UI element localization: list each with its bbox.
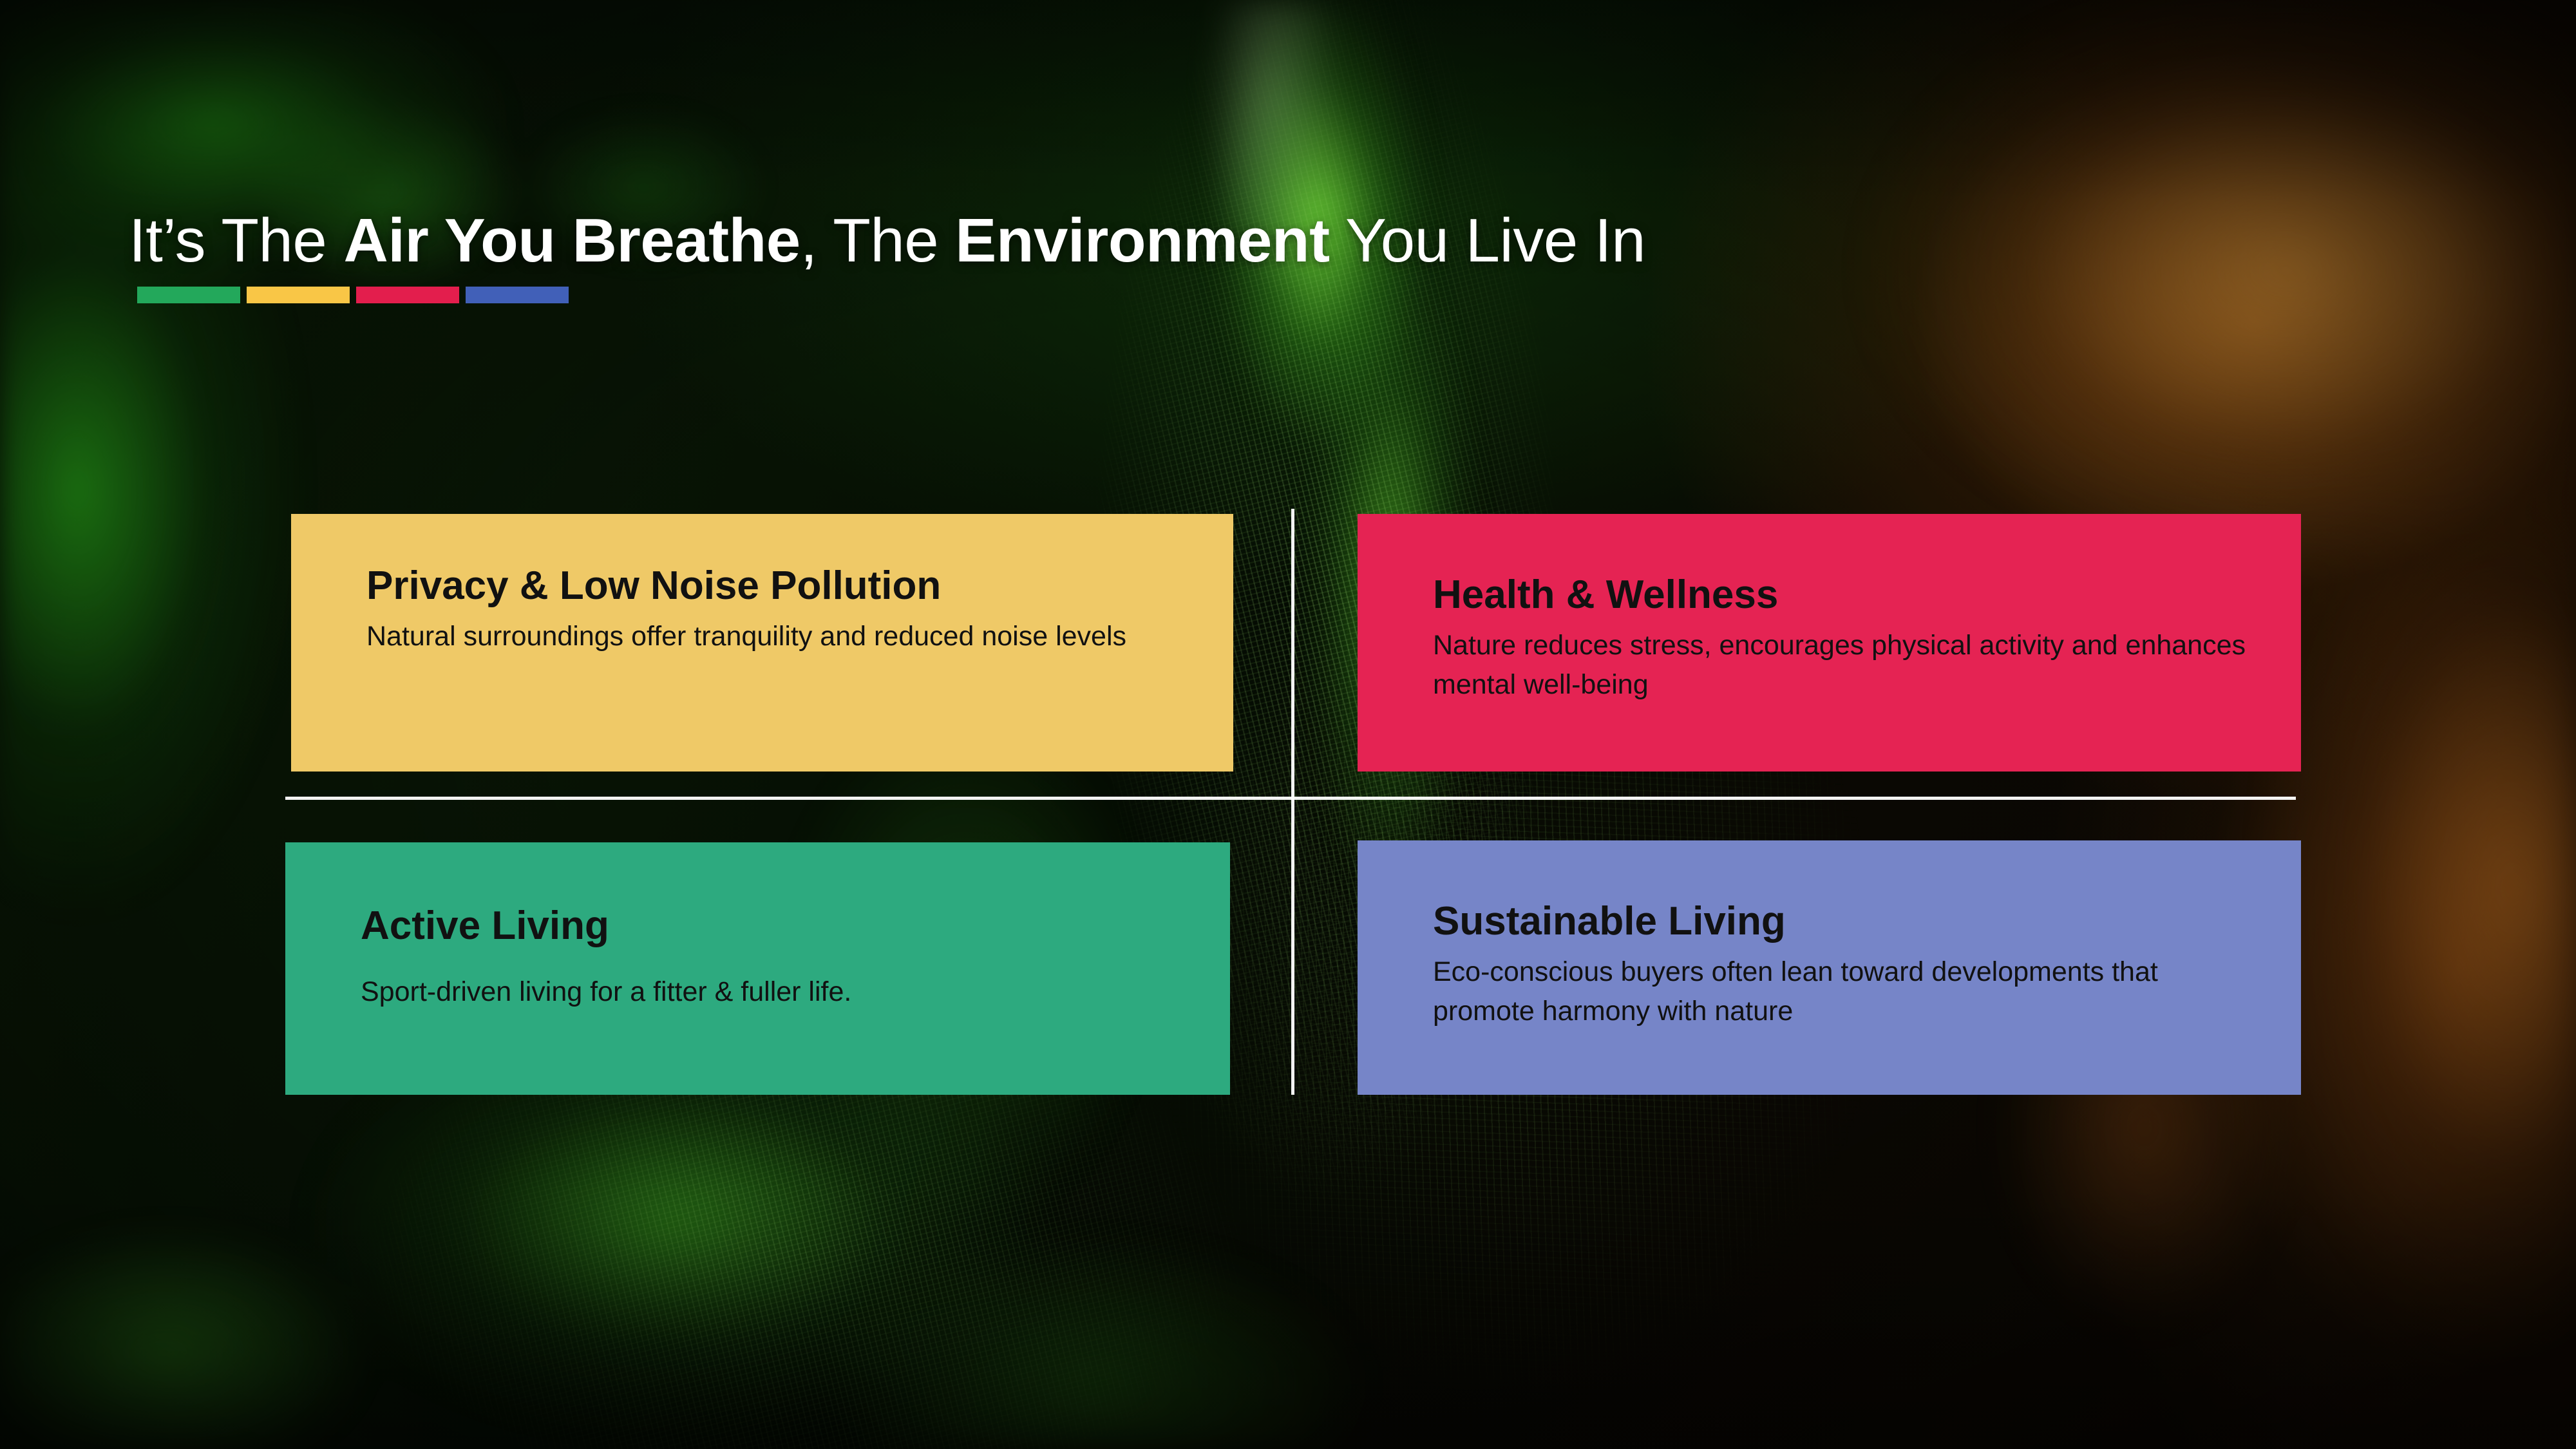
card-privacy-content: Privacy & Low Noise Pollution Natural su…: [366, 564, 1195, 656]
page-title-segment-3: Environment: [955, 206, 1329, 275]
swatch-green: [137, 287, 240, 303]
accent-color-bar: [137, 287, 569, 303]
card-privacy-title: Privacy & Low Noise Pollution: [366, 564, 1195, 608]
page-title-segment-2: , The: [800, 206, 956, 275]
vertical-divider: [1291, 509, 1294, 1095]
slide-content: It’s The Air You Breathe, The Environmen…: [0, 0, 2576, 1449]
horizontal-divider: [285, 797, 2296, 800]
card-privacy-description: Natural surroundings offer tranquility a…: [366, 617, 1195, 656]
card-health-description: Nature reduces stress, encourages physic…: [1433, 626, 2262, 705]
page-title-segment-0: It’s The: [129, 206, 343, 275]
card-health-content: Health & Wellness Nature reduces stress,…: [1433, 573, 2262, 705]
page-title: It’s The Air You Breathe, The Environmen…: [129, 207, 1645, 274]
slide-canvas: It’s The Air You Breathe, The Environmen…: [0, 0, 2576, 1449]
page-title-segment-1: Air You Breathe: [343, 206, 800, 275]
card-active-living-title: Active Living: [361, 904, 1191, 948]
card-active-living-description: Sport-driven living for a fitter & fulle…: [361, 972, 1191, 1012]
card-health-title: Health & Wellness: [1433, 573, 2262, 617]
card-sustainable-living[interactable]: Sustainable Living Eco-conscious buyers …: [1358, 840, 2301, 1095]
card-sustainable-living-content: Sustainable Living Eco-conscious buyers …: [1433, 900, 2262, 1031]
swatch-yellow: [247, 287, 350, 303]
card-active-living-content: Active Living Sport-driven living for a …: [361, 904, 1191, 1012]
swatch-blue: [466, 287, 569, 303]
card-sustainable-living-title: Sustainable Living: [1433, 900, 2262, 943]
card-health[interactable]: Health & Wellness Nature reduces stress,…: [1358, 514, 2301, 772]
card-sustainable-living-description: Eco-conscious buyers often lean toward d…: [1433, 952, 2262, 1031]
swatch-red: [356, 287, 459, 303]
card-active-living[interactable]: Active Living Sport-driven living for a …: [285, 842, 1230, 1095]
card-privacy[interactable]: Privacy & Low Noise Pollution Natural su…: [291, 514, 1233, 772]
page-title-segment-4: You Live In: [1330, 206, 1645, 275]
